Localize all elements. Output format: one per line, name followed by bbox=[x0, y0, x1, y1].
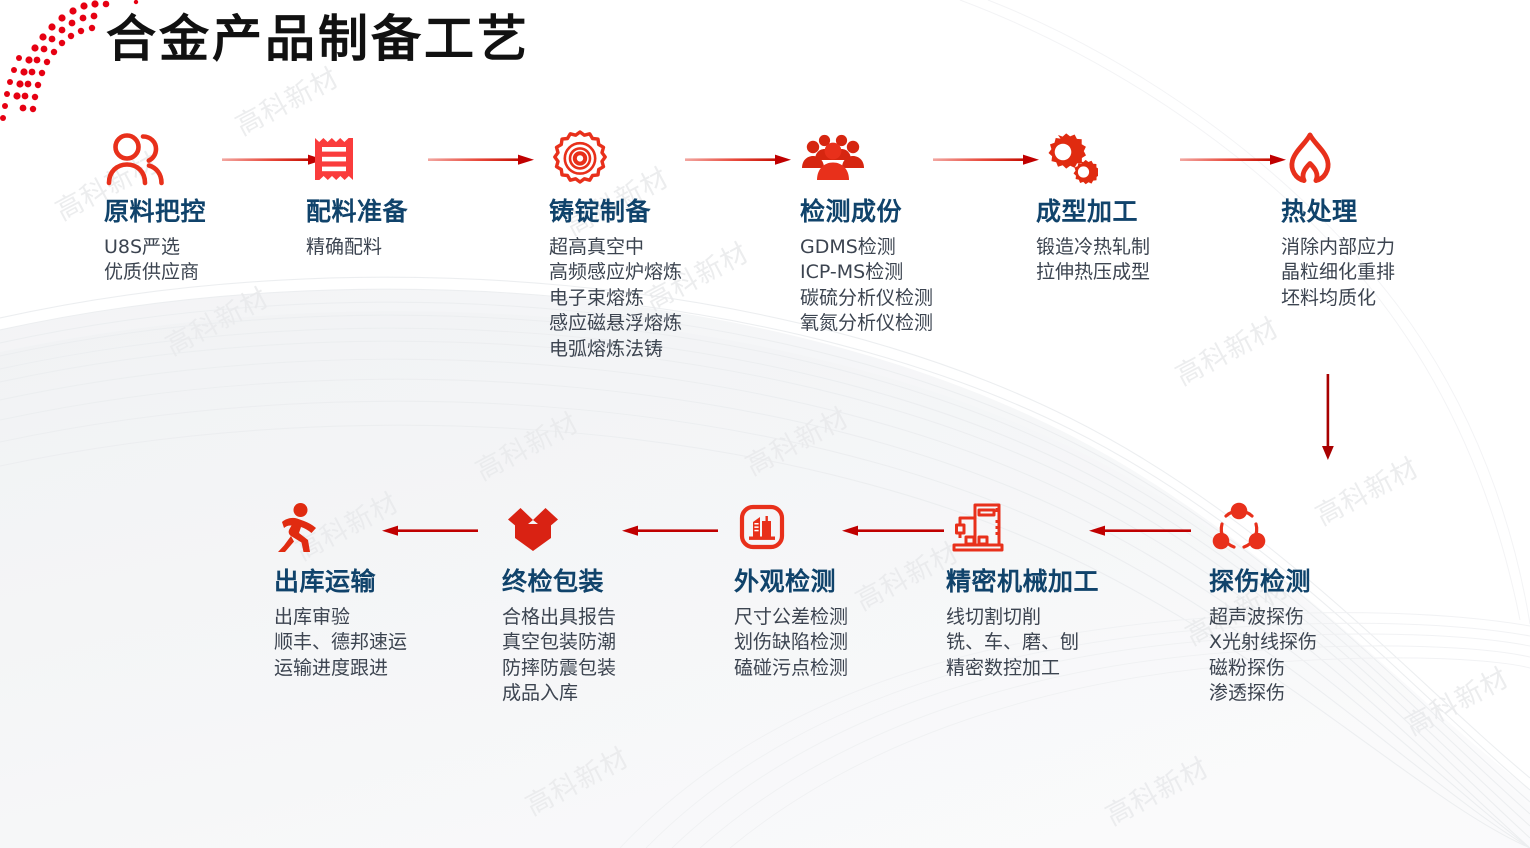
flame-icon bbox=[1281, 130, 1395, 188]
arrow-step5-to-step6 bbox=[1180, 152, 1290, 168]
step-line: 坯料均质化 bbox=[1281, 286, 1395, 312]
step-line: 高频感应炉熔炼 bbox=[549, 260, 682, 286]
step-line: 渗透探伤 bbox=[1209, 681, 1317, 707]
arrow-step2-to-step3 bbox=[428, 152, 538, 168]
inspection-frame-icon bbox=[734, 500, 848, 558]
step-4-composition-testing: 检测成份 GDMS检测 ICP-MS检测 碳硫分析仪检测 氧氮分析仪检测 bbox=[800, 130, 933, 337]
watermark-layer: 高科新材 高科新材 高科新材 高科新材 高科新材 高科新材 高科新材 高科新材 … bbox=[0, 0, 1530, 848]
watermark: 高科新材 bbox=[517, 736, 634, 823]
step-8-lines: 线切割切削 铣、车、磨、刨 精密数控加工 bbox=[946, 605, 1099, 682]
arrow-step4-to-step5 bbox=[933, 152, 1043, 168]
step-7-lines: 超声波探伤 X光射线探伤 磁粉探伤 渗透探伤 bbox=[1209, 605, 1317, 707]
step-7-heading: 探伤检测 bbox=[1209, 568, 1317, 597]
step-line: 尺寸公差检测 bbox=[734, 605, 848, 631]
arrow-step7-to-step8 bbox=[1085, 523, 1195, 539]
watermark: 高科新材 bbox=[157, 276, 274, 363]
step-5-forming-processing: 成型加工 锻造冷热轧制 拉伸热压成型 bbox=[1036, 130, 1150, 286]
step-line: 电弧熔炼法铸 bbox=[549, 337, 682, 363]
step-line: 精密数控加工 bbox=[946, 656, 1099, 682]
dotted-arc-decoration bbox=[0, 0, 1530, 848]
arrow-step9-to-step10 bbox=[618, 523, 722, 539]
step-2-batching-preparation: 配料准备 精确配料 bbox=[306, 130, 408, 260]
step-line: 超高真空中 bbox=[549, 235, 682, 261]
step-1-lines: U8S严选 优质供应商 bbox=[104, 235, 206, 286]
gear-target-icon bbox=[549, 130, 682, 188]
step-1-heading: 原料把控 bbox=[104, 198, 206, 227]
step-9-appearance-inspection: 外观检测 尺寸公差检测 划伤缺陷检测 磕碰污点检测 bbox=[734, 500, 848, 681]
step-line: 成品入库 bbox=[502, 681, 616, 707]
watermark: 高科新材 bbox=[1167, 306, 1284, 393]
watermark: 高科新材 bbox=[1097, 746, 1214, 833]
step-line: 电子束熔炼 bbox=[549, 286, 682, 312]
arrow-step3-to-step4 bbox=[685, 152, 795, 168]
step-2-heading: 配料准备 bbox=[306, 198, 408, 227]
background-swoosh bbox=[0, 0, 1530, 848]
step-line: ICP-MS检测 bbox=[800, 260, 933, 286]
step-line: 超声波探伤 bbox=[1209, 605, 1317, 631]
step-line: 合格出具报告 bbox=[502, 605, 616, 631]
watermark: 高科新材 bbox=[1397, 656, 1514, 743]
step-line: U8S严选 bbox=[104, 235, 206, 261]
step-4-heading: 检测成份 bbox=[800, 198, 933, 227]
step-11-lines: 出库审验 顺丰、德邦速运 运输进度跟进 bbox=[274, 605, 407, 682]
step-6-heat-treatment: 热处理 消除内部应力 晶粒细化重排 坯料均质化 bbox=[1281, 130, 1395, 311]
step-5-heading: 成型加工 bbox=[1036, 198, 1150, 227]
step-8-heading: 精密机械加工 bbox=[946, 568, 1099, 597]
step-line: 顺丰、德邦速运 bbox=[274, 630, 407, 656]
step-line: 碳硫分析仪检测 bbox=[800, 286, 933, 312]
step-11-heading: 出库运输 bbox=[274, 568, 407, 597]
step-line: X光射线探伤 bbox=[1209, 630, 1317, 656]
step-7-flaw-detection: 探伤检测 超声波探伤 X光射线探伤 磁粉探伤 渗透探伤 bbox=[1209, 500, 1317, 707]
step-6-heading: 热处理 bbox=[1281, 198, 1395, 227]
step-3-lines: 超高真空中 高频感应炉熔炼 电子束熔炼 感应磁悬浮熔炼 电弧熔炼法铸 bbox=[549, 235, 682, 363]
step-line: 优质供应商 bbox=[104, 260, 206, 286]
page-title: 合金产品制备工艺 bbox=[106, 9, 530, 70]
step-3-heading: 铸锭制备 bbox=[549, 198, 682, 227]
step-10-heading: 终检包装 bbox=[502, 568, 616, 597]
three-nodes-icon bbox=[1209, 500, 1317, 558]
step-line: 磕碰污点检测 bbox=[734, 656, 848, 682]
step-5-lines: 锻造冷热轧制 拉伸热压成型 bbox=[1036, 235, 1150, 286]
step-3-ingot-preparation: 铸锭制备 超高真空中 高频感应炉熔炼 电子束熔炼 感应磁悬浮熔炼 电弧熔炼法铸 bbox=[549, 130, 682, 362]
step-line: 线切割切削 bbox=[946, 605, 1099, 631]
infographic-canvas: 高科新材 高科新材 高科新材 高科新材 高科新材 高科新材 高科新材 高科新材 … bbox=[0, 0, 1530, 848]
open-box-icon bbox=[502, 500, 616, 558]
step-2-lines: 精确配料 bbox=[306, 235, 408, 261]
step-line: 晶粒细化重排 bbox=[1281, 260, 1395, 286]
cnc-machine-icon bbox=[946, 500, 1099, 558]
step-line: 防摔防震包装 bbox=[502, 656, 616, 682]
step-10-lines: 合格出具报告 真空包装防潮 防摔防震包装 成品入库 bbox=[502, 605, 616, 707]
step-9-heading: 外观检测 bbox=[734, 568, 848, 597]
step-9-lines: 尺寸公差检测 划伤缺陷检测 磕碰污点检测 bbox=[734, 605, 848, 682]
watermark: 高科新材 bbox=[467, 401, 584, 488]
step-line: 感应磁悬浮熔炼 bbox=[549, 311, 682, 337]
step-10-final-inspection-packaging: 终检包装 合格出具报告 真空包装防潮 防摔防震包装 成品入库 bbox=[502, 500, 616, 707]
step-line: 铣、车、磨、刨 bbox=[946, 630, 1099, 656]
step-11-outbound-transport: 出库运输 出库审验 顺丰、德邦速运 运输进度跟进 bbox=[274, 500, 407, 681]
step-line: 真空包装防潮 bbox=[502, 630, 616, 656]
step-line: 划伤缺陷检测 bbox=[734, 630, 848, 656]
step-line: 消除内部应力 bbox=[1281, 235, 1395, 261]
step-line: 磁粉探伤 bbox=[1209, 656, 1317, 682]
step-line: 运输进度跟进 bbox=[274, 656, 407, 682]
watermark: 高科新材 bbox=[737, 396, 854, 483]
step-6-lines: 消除内部应力 晶粒细化重排 坯料均质化 bbox=[1281, 235, 1395, 312]
receipt-icon bbox=[306, 130, 408, 188]
step-line: 拉伸热压成型 bbox=[1036, 260, 1150, 286]
arrow-step6-to-step7-vertical bbox=[1316, 374, 1340, 464]
gears-icon bbox=[1036, 130, 1150, 188]
running-person-icon bbox=[274, 500, 407, 558]
step-8-precision-machining: 精密机械加工 线切割切削 铣、车、磨、刨 精密数控加工 bbox=[946, 500, 1099, 681]
step-4-lines: GDMS检测 ICP-MS检测 碳硫分析仪检测 氧氮分析仪检测 bbox=[800, 235, 933, 337]
step-line: 氧氮分析仪检测 bbox=[800, 311, 933, 337]
arrow-step8-to-step9 bbox=[838, 523, 948, 539]
step-line: 锻造冷热轧制 bbox=[1036, 235, 1150, 261]
step-line: 出库审验 bbox=[274, 605, 407, 631]
step-line: GDMS检测 bbox=[800, 235, 933, 261]
step-line: 精确配料 bbox=[306, 235, 408, 261]
step-1-raw-material-control: 原料把控 U8S严选 优质供应商 bbox=[104, 130, 206, 286]
people-group-icon bbox=[800, 130, 933, 188]
two-people-icon bbox=[104, 130, 206, 188]
